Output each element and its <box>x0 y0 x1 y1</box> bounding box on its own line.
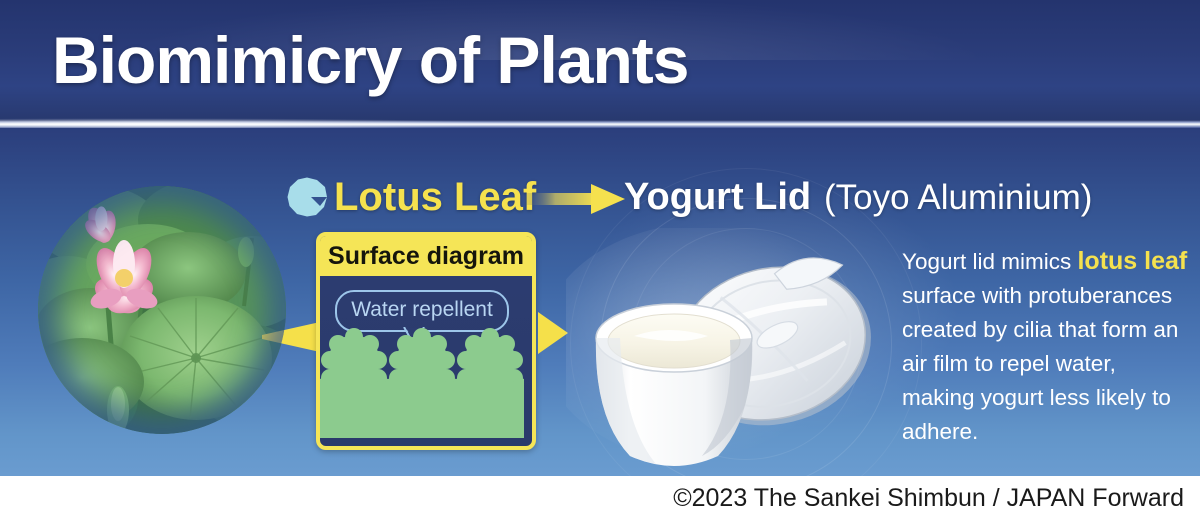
lotus-pond-photo <box>38 186 286 434</box>
description-body: surface with protuberances created by ci… <box>902 283 1178 444</box>
description-text: Yogurt lid mimics lotus leaf surface wit… <box>902 244 1194 449</box>
company-label: (Toyo Aluminium) <box>824 173 1092 223</box>
header-band: Biomimicry of Plants <box>0 0 1200 120</box>
cilia-protuberances-illustration <box>320 318 524 438</box>
infographic-poster: Biomimicry of Plants <box>0 0 1200 532</box>
surface-diagram-body: Water repellent <box>320 276 532 438</box>
yogurt-cup-with-lid-photo <box>566 228 896 478</box>
arrow-right-icon <box>521 183 625 215</box>
lotus-leaf-label: Lotus Leaf <box>334 172 536 222</box>
surface-diagram-card: Surface diagram Water repellent <box>316 232 536 450</box>
copyright-notice: ©2023 The Sankei Shimbun / JAPAN Forward <box>673 480 1184 516</box>
yogurt-lid-label: Yogurt Lid <box>624 172 811 222</box>
description-lead: Yogurt lid mimics <box>902 249 1077 274</box>
page-title: Biomimicry of Plants <box>52 14 689 106</box>
description-highlight: lotus leaf <box>1077 247 1187 275</box>
lotus-leaf-icon <box>286 176 328 218</box>
header-divider <box>0 120 1200 128</box>
surface-diagram-heading: Surface diagram <box>320 236 532 276</box>
triangle-right-icon <box>538 312 568 354</box>
photo-vignette <box>38 186 286 434</box>
